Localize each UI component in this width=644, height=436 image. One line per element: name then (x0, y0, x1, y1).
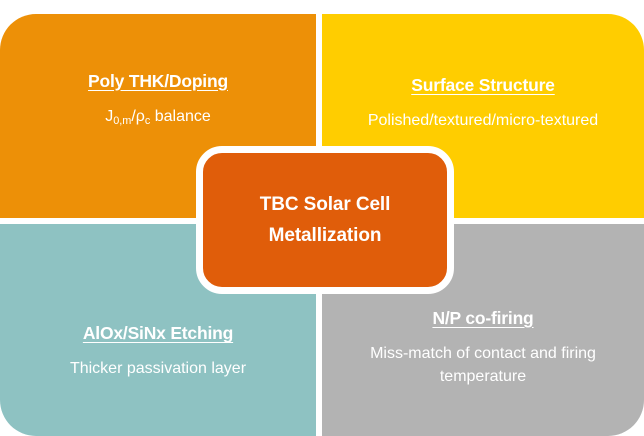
quadrant-title-surface-structure: Surface Structure (368, 75, 598, 97)
center-hub-line-2: Metallization (269, 225, 382, 246)
quadrant-text-stack: AlOx/SiNx Etching Thicker passivation la… (70, 323, 246, 380)
quadrant-text-stack: Poly THK/Doping J0,m/ρc balance (88, 71, 228, 130)
subtitle-balance-text: balance (150, 108, 211, 125)
center-hub-line-1: TBC Solar Cell (260, 194, 391, 215)
quadrant-diagram: Poly THK/Doping J0,m/ρc balance Surface … (0, 0, 644, 436)
quadrant-text-stack: Surface Structure Polished/textured/micr… (368, 75, 598, 132)
quadrant-subtitle-poly-thk-doping: J0,m/ρc balance (88, 105, 228, 130)
center-hub[interactable]: TBC Solar Cell Metallization (196, 146, 454, 294)
quadrant-title-alox-sinx-etching: AlOx/SiNx Etching (70, 323, 246, 345)
subtitle-subscript-0m: 0,m (113, 115, 131, 127)
center-hub-label: TBC Solar Cell Metallization (250, 189, 401, 252)
quadrant-subtitle-surface-structure: Polished/textured/micro-textured (368, 109, 598, 132)
subtitle-j-symbol: J (105, 108, 113, 125)
quadrant-subtitle-np-co-firing: Miss-match of contact and firing tempera… (353, 342, 613, 388)
quadrant-subtitle-alox-sinx-etching: Thicker passivation layer (70, 357, 246, 380)
quadrant-title-np-co-firing: N/P co-firing (353, 308, 613, 330)
subtitle-rho-symbol: /ρ (131, 108, 145, 125)
quadrant-title-poly-thk-doping: Poly THK/Doping (88, 71, 228, 93)
quadrant-text-stack: N/P co-firing Miss-match of contact and … (353, 308, 613, 388)
